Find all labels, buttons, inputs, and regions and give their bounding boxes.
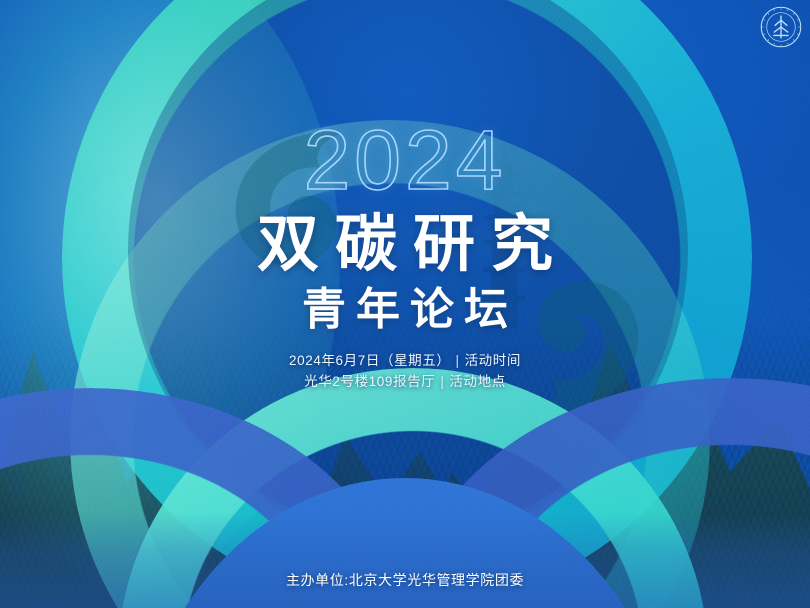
event-place-label: 活动地点 — [449, 374, 505, 389]
meta-separator-1: | — [455, 353, 459, 368]
poster-title-sub: 青年论坛 — [0, 288, 810, 332]
event-meta: 2024年6月7日（星期五）|活动时间 光华2号楼109报告厅|活动地点 — [0, 350, 810, 392]
event-poster: 2024 双碳研究 青年论坛 2024年6月7日（星期五）|活动时间 光华2号楼… — [0, 0, 810, 608]
organizer-line: 主办单位:北京大学光华管理学院团委 — [0, 570, 810, 590]
peking-university-seal-logo — [760, 6, 802, 48]
event-date-value: 2024年6月7日（星期五） — [289, 353, 450, 368]
event-time-label: 活动时间 — [465, 353, 521, 368]
event-venue-value: 光华2号楼109报告厅 — [304, 374, 435, 389]
event-place-row: 光华2号楼109报告厅|活动地点 — [0, 371, 810, 392]
event-time-row: 2024年6月7日（星期五）|活动时间 — [0, 350, 810, 371]
poster-title-main: 双碳研究 — [0, 214, 810, 276]
meta-separator-2: | — [440, 374, 444, 389]
year-heading: 2024 — [0, 118, 810, 202]
